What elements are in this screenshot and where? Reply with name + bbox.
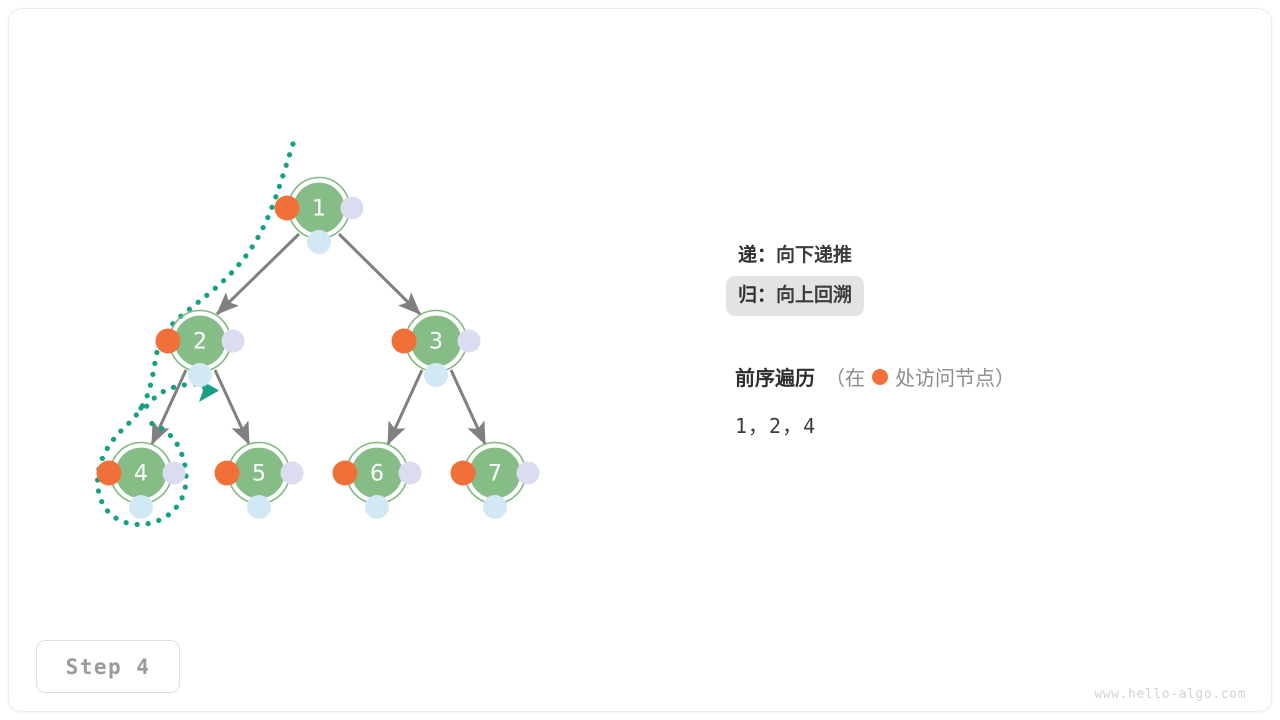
- legend-value-backtrack: 向上回溯: [776, 276, 852, 316]
- node-left-dot-preorder: [156, 329, 181, 354]
- edge-2-5: [215, 370, 249, 444]
- node-right-dot-inorder: [399, 462, 422, 485]
- node-left-dot-preorder: [215, 461, 240, 486]
- node-label: 2: [193, 330, 207, 355]
- binary-tree-diagram: 1 2 3: [0, 0, 1280, 720]
- node-label: 7: [488, 462, 502, 487]
- node-label: 4: [134, 462, 148, 487]
- tree-node-6[interactable]: 6: [333, 443, 422, 520]
- node-bottom-dot-postorder: [483, 495, 507, 519]
- legend-value-recurse-down: 向下递推: [776, 236, 852, 276]
- step-badge: Step 4: [36, 640, 180, 693]
- traversal-title-main: 前序遍历: [726, 362, 825, 391]
- legend-key-recurse-down: 递：: [738, 236, 776, 276]
- node-bottom-dot-postorder: [424, 363, 448, 387]
- node-left-dot-preorder: [333, 461, 358, 486]
- traversal-values: 1，2，4: [735, 410, 816, 439]
- tree-node-7[interactable]: 7: [451, 443, 540, 520]
- node-right-dot-inorder: [341, 197, 364, 220]
- tree-node-1[interactable]: 1: [275, 178, 364, 255]
- node-right-dot-inorder: [281, 462, 304, 485]
- traversal-title-paren-open: （在: [825, 362, 865, 391]
- node-right-dot-inorder: [517, 462, 540, 485]
- node-left-dot-preorder: [275, 196, 300, 221]
- node-bottom-dot-postorder: [129, 495, 153, 519]
- legend-key-backtrack: 归：: [738, 276, 776, 316]
- watermark: www.hello-algo.com: [1094, 687, 1246, 702]
- traversal-title: 前序遍历 （在 处访问节点）: [726, 362, 1015, 391]
- edge-1-3: [339, 234, 420, 314]
- node-bottom-dot-postorder: [188, 363, 212, 387]
- traversal-title-paren-close: 处访问节点）: [895, 362, 1015, 391]
- node-left-dot-preorder: [451, 461, 476, 486]
- node-label: 5: [252, 462, 266, 487]
- node-left-dot-preorder: [97, 461, 122, 486]
- legend-panel: 递： 向下递推 归： 向上回溯: [726, 236, 1246, 316]
- node-left-dot-preorder: [392, 329, 417, 354]
- orange-dot-icon: [872, 369, 888, 385]
- edge-3-7: [451, 370, 485, 444]
- node-bottom-dot-postorder: [307, 230, 331, 254]
- node-label: 3: [429, 330, 443, 355]
- node-right-dot-inorder: [458, 330, 481, 353]
- node-right-dot-inorder: [163, 462, 186, 485]
- node-bottom-dot-postorder: [365, 495, 389, 519]
- node-label: 1: [312, 197, 326, 222]
- step-badge-label: Step 4: [66, 655, 151, 679]
- figure-canvas: 1 2 3: [0, 0, 1280, 720]
- tree-nodes: 1 2 3: [97, 178, 540, 520]
- tree-node-2[interactable]: 2: [156, 311, 245, 388]
- edge-3-6: [388, 370, 422, 444]
- tree-node-5[interactable]: 5: [215, 443, 304, 520]
- node-right-dot-inorder: [222, 330, 245, 353]
- tree-node-3[interactable]: 3: [392, 311, 481, 388]
- legend-line-recurse-down: 递： 向下递推: [726, 236, 864, 276]
- legend-line-backtrack: 归： 向上回溯: [726, 276, 864, 316]
- node-bottom-dot-postorder: [247, 495, 271, 519]
- node-label: 6: [370, 462, 384, 487]
